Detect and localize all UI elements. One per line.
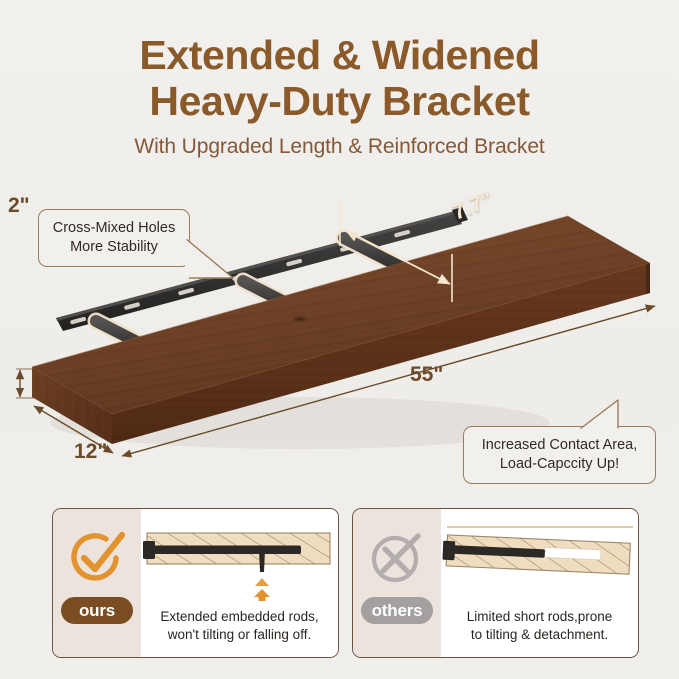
badge-others: others (361, 597, 433, 624)
panel-others-left: others (353, 509, 441, 657)
dimension-label-thickness: 2" (8, 194, 30, 218)
page-subtitle: With Upgraded Length & Reinforced Bracke… (0, 135, 679, 159)
panel-ours: ours (52, 508, 339, 658)
callout-increased-contact-area: Increased Contact Area, Load-Capccity Up… (463, 426, 656, 484)
panel-ours-caption-line-2: won't tilting or falling off. (141, 626, 338, 644)
embedded-rod-diagram-others (441, 517, 639, 607)
badge-ours: ours (61, 597, 133, 624)
headline-line-2: Heavy-Duty Bracket (0, 78, 679, 124)
product-infographic: Extended & Widened Heavy-Duty Bracket Wi… (0, 0, 679, 679)
panel-others: others (352, 508, 639, 658)
page-title: Extended & Widened Heavy-Duty Bracket (0, 32, 679, 124)
callout-cross-mixed-holes: Cross-Mixed Holes More Stability (38, 209, 190, 267)
dimension-label-length: 55" (410, 363, 443, 387)
callout-holes-line-1: Cross-Mixed Holes (51, 219, 177, 238)
panel-ours-right: Extended embedded rods, won't tilting or… (141, 509, 338, 657)
cross-circle-icon (366, 530, 428, 586)
panel-ours-left: ours (53, 509, 141, 657)
panel-ours-caption-line-1: Extended embedded rods, (141, 608, 338, 626)
embedded-rod-diagram-ours (141, 517, 339, 607)
callout-contact-line-1: Increased Contact Area, (476, 436, 643, 455)
panel-others-caption-line-2: to tilting & detachment. (441, 626, 638, 644)
panel-others-caption-line-1: Limited short rods,prone (441, 608, 638, 626)
check-circle-icon (66, 530, 128, 586)
headline-line-1: Extended & Widened (139, 32, 539, 78)
panel-others-right: Limited short rods,prone to tilting & de… (441, 509, 638, 657)
comparison-panels: ours (0, 505, 679, 670)
panel-others-caption: Limited short rods,prone to tilting & de… (441, 608, 638, 644)
dimension-label-depth: 12" (74, 440, 107, 464)
callout-holes-line-2: More Stability (51, 238, 177, 257)
callout-contact-line-2: Load-Capccity Up! (476, 455, 643, 474)
panel-ours-caption: Extended embedded rods, won't tilting or… (141, 608, 338, 644)
